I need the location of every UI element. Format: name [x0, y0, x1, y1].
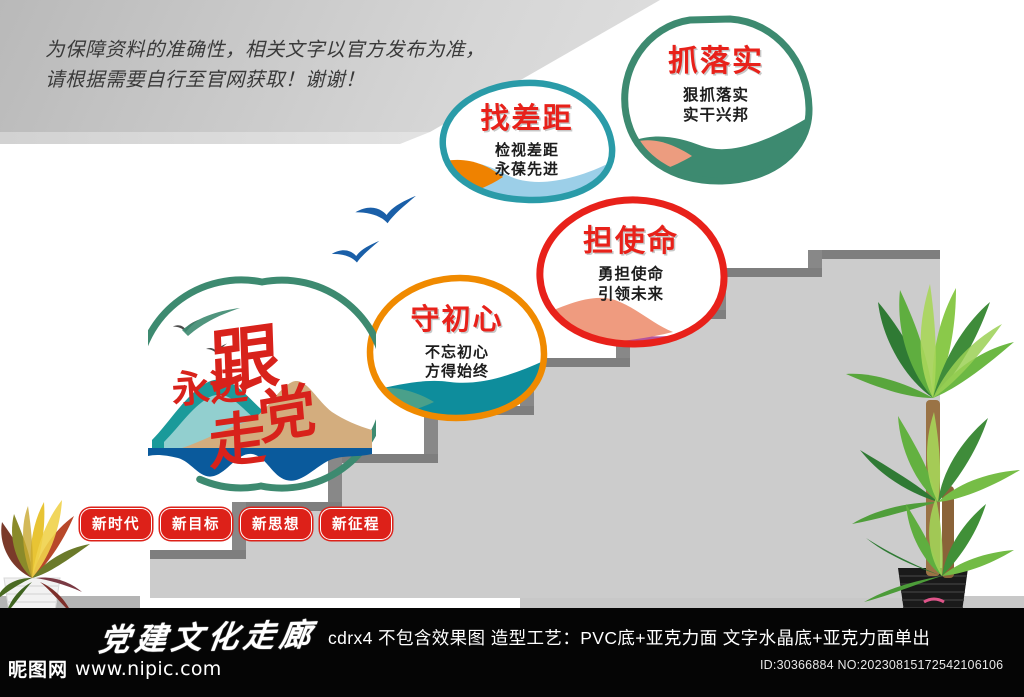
flying-birds-group [330, 196, 450, 276]
badge-text-block: 担使命 勇担使命 引领未来 [533, 216, 729, 305]
badge-subtitle: 不忘初心 方得始终 [364, 343, 550, 381]
badge-danshiming[interactable]: 担使命 勇担使命 引领未来 [533, 196, 729, 348]
tag-xinsixiang[interactable]: 新思想 [240, 508, 312, 540]
poster-canvas: 为保障资料的准确性，相关文字以官方发布为准， 请根据需要自行至官网获取！谢谢！ [0, 0, 1024, 697]
badge-text-block: 守初心 不忘初心 方得始终 [364, 296, 550, 381]
footer-spec-text: cdrx4 不包含效果图 造型工艺：PVC底+亚克力面 文字水晶底+亚克力面单出 [328, 625, 930, 650]
tag-xinzhengcheng[interactable]: 新征程 [320, 508, 392, 540]
footer-title-calligraphy: 党建文化走廊 [97, 609, 320, 660]
dracaena-plant [838, 250, 1024, 618]
badge-title: 守初心 [364, 296, 550, 338]
slogan-tag-row: 新时代 新目标 新思想 新征程 [80, 508, 392, 540]
watermark-site-url[interactable]: www.nipic.com [75, 658, 222, 680]
badge-zhualuoshi[interactable]: 抓落实 狠抓落实 实干兴邦 [618, 14, 814, 186]
badge-subtitle: 勇担使命 引领未来 [533, 265, 729, 305]
emblem-char-zou: 走 [208, 404, 268, 477]
bird-icon [332, 241, 380, 263]
footer-id-text: ID:30366884 NO:20230815172542106106 [760, 658, 1003, 672]
watermark-site-name-cn: 昵图网 [8, 655, 68, 682]
badge-zhaochaju[interactable]: 找差距 检视差距 永葆先进 [437, 79, 617, 203]
badge-subtitle: 检视差距 永葆先进 [437, 141, 617, 179]
tag-xinmubiao[interactable]: 新目标 [160, 508, 232, 540]
badge-title: 找差距 [437, 95, 617, 137]
footer-watermark: 昵图网 www.nipic.com [8, 655, 222, 682]
main-emblem-yongyuangendangzou[interactable]: 跟 永远 党 走 [148, 272, 376, 494]
plant-leaves [846, 284, 1020, 602]
badge-text-block: 抓落实 狠抓落实 实干兴邦 [618, 36, 814, 126]
badge-title: 担使命 [533, 216, 729, 260]
badge-text-block: 找差距 检视差距 永葆先进 [437, 95, 617, 179]
emblem-char-yongyuan: 永远 [170, 365, 249, 412]
croton-plant [0, 482, 112, 618]
bird-icon [355, 196, 416, 223]
badge-shouchuxin[interactable]: 守初心 不忘初心 方得始终 [364, 274, 550, 422]
badge-subtitle: 狠抓落实 实干兴邦 [618, 86, 814, 126]
badge-title: 抓落实 [618, 36, 814, 80]
